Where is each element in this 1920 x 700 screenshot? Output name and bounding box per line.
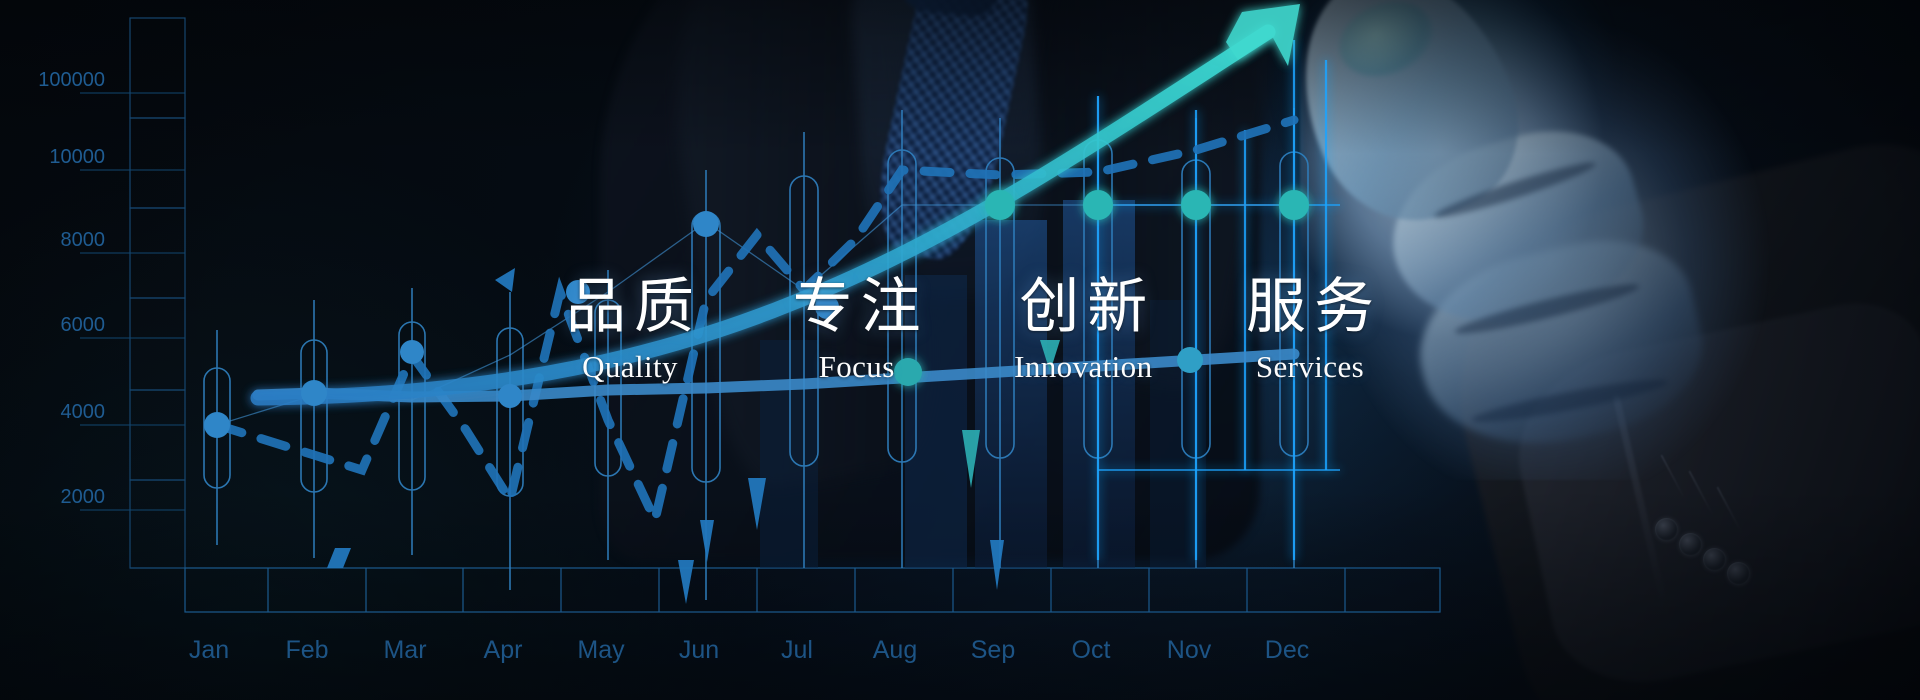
y-axis-grid (130, 18, 185, 568)
slogan-cn-focus: 专注 (747, 276, 967, 338)
slogan-cn-quality: 品质 (520, 276, 740, 338)
candle-feb (301, 300, 327, 558)
y-tick-label: 2000 (61, 486, 106, 508)
growth-arrow-head (1226, 4, 1300, 66)
slogan-quality: 品质 Quality (520, 276, 740, 384)
y-tick-label: 10000 (49, 146, 105, 168)
x-tick-label-dec: Dec (1265, 636, 1309, 664)
x-tick-label-nov: Nov (1167, 636, 1212, 664)
x-tick-label-mar: Mar (383, 636, 426, 664)
marker-aug (985, 190, 1015, 220)
hero-banner: 100000 10000 8000 6000 4000 2000 (0, 0, 1920, 700)
marker-jan (204, 412, 230, 438)
x-tick-label-sep: Sep (971, 636, 1015, 664)
y-tick-label: 100000 (38, 69, 105, 91)
x-tick-label-aug: Aug (873, 636, 917, 664)
x-tick-label-feb: Feb (285, 636, 328, 664)
x-tick-label-jan: Jan (189, 636, 229, 664)
y-tick-label: 4000 (61, 401, 106, 423)
slogan-cn-innovation: 创新 (973, 276, 1193, 338)
marker-jun (693, 211, 719, 237)
slogan-en-quality: Quality (520, 350, 740, 384)
marker-feb (301, 380, 327, 406)
marker-sep (1083, 190, 1113, 220)
marker-oct (1181, 190, 1211, 220)
candle-mar (399, 288, 425, 555)
y-tick-label: 8000 (61, 229, 106, 251)
x-tick-label-may: May (577, 636, 625, 664)
x-tick-label-jul: Jul (781, 636, 813, 664)
chevron-up-icon (327, 548, 351, 568)
slogan-en-focus: Focus (747, 350, 967, 384)
down-arrow-marker (700, 520, 714, 562)
plot-gridlines (185, 568, 1440, 612)
down-arrow-marker (678, 560, 694, 604)
marker-nov (1279, 190, 1309, 220)
slogan-cn-services: 服务 (1200, 276, 1420, 338)
x-tick-label-jun: Jun (679, 636, 719, 664)
slogan-innovation: 创新 Innovation (973, 276, 1193, 384)
marker-apr (498, 384, 522, 408)
x-axis-band (185, 568, 1440, 612)
slogan-focus: 专注 Focus (747, 276, 967, 384)
up-arrow-marker (495, 268, 515, 292)
x-tick-label-apr: Apr (484, 636, 523, 664)
slogan-en-innovation: Innovation (973, 350, 1193, 384)
slogan-group: 品质 Quality 专注 Focus 创新 Innovation 服务 Ser… (520, 276, 1420, 404)
x-tick-label-oct: Oct (1072, 636, 1111, 664)
slogan-services: 服务 Services (1200, 276, 1420, 384)
y-tick-label: 6000 (61, 314, 106, 336)
y-axis-labels: 100000 10000 8000 6000 4000 2000 (38, 69, 105, 508)
slogan-en-services: Services (1200, 350, 1420, 384)
marker-mar (400, 340, 424, 364)
x-axis-labels: Jan Feb Mar Apr May Jun Jul Aug Sep Oct … (189, 636, 1309, 664)
